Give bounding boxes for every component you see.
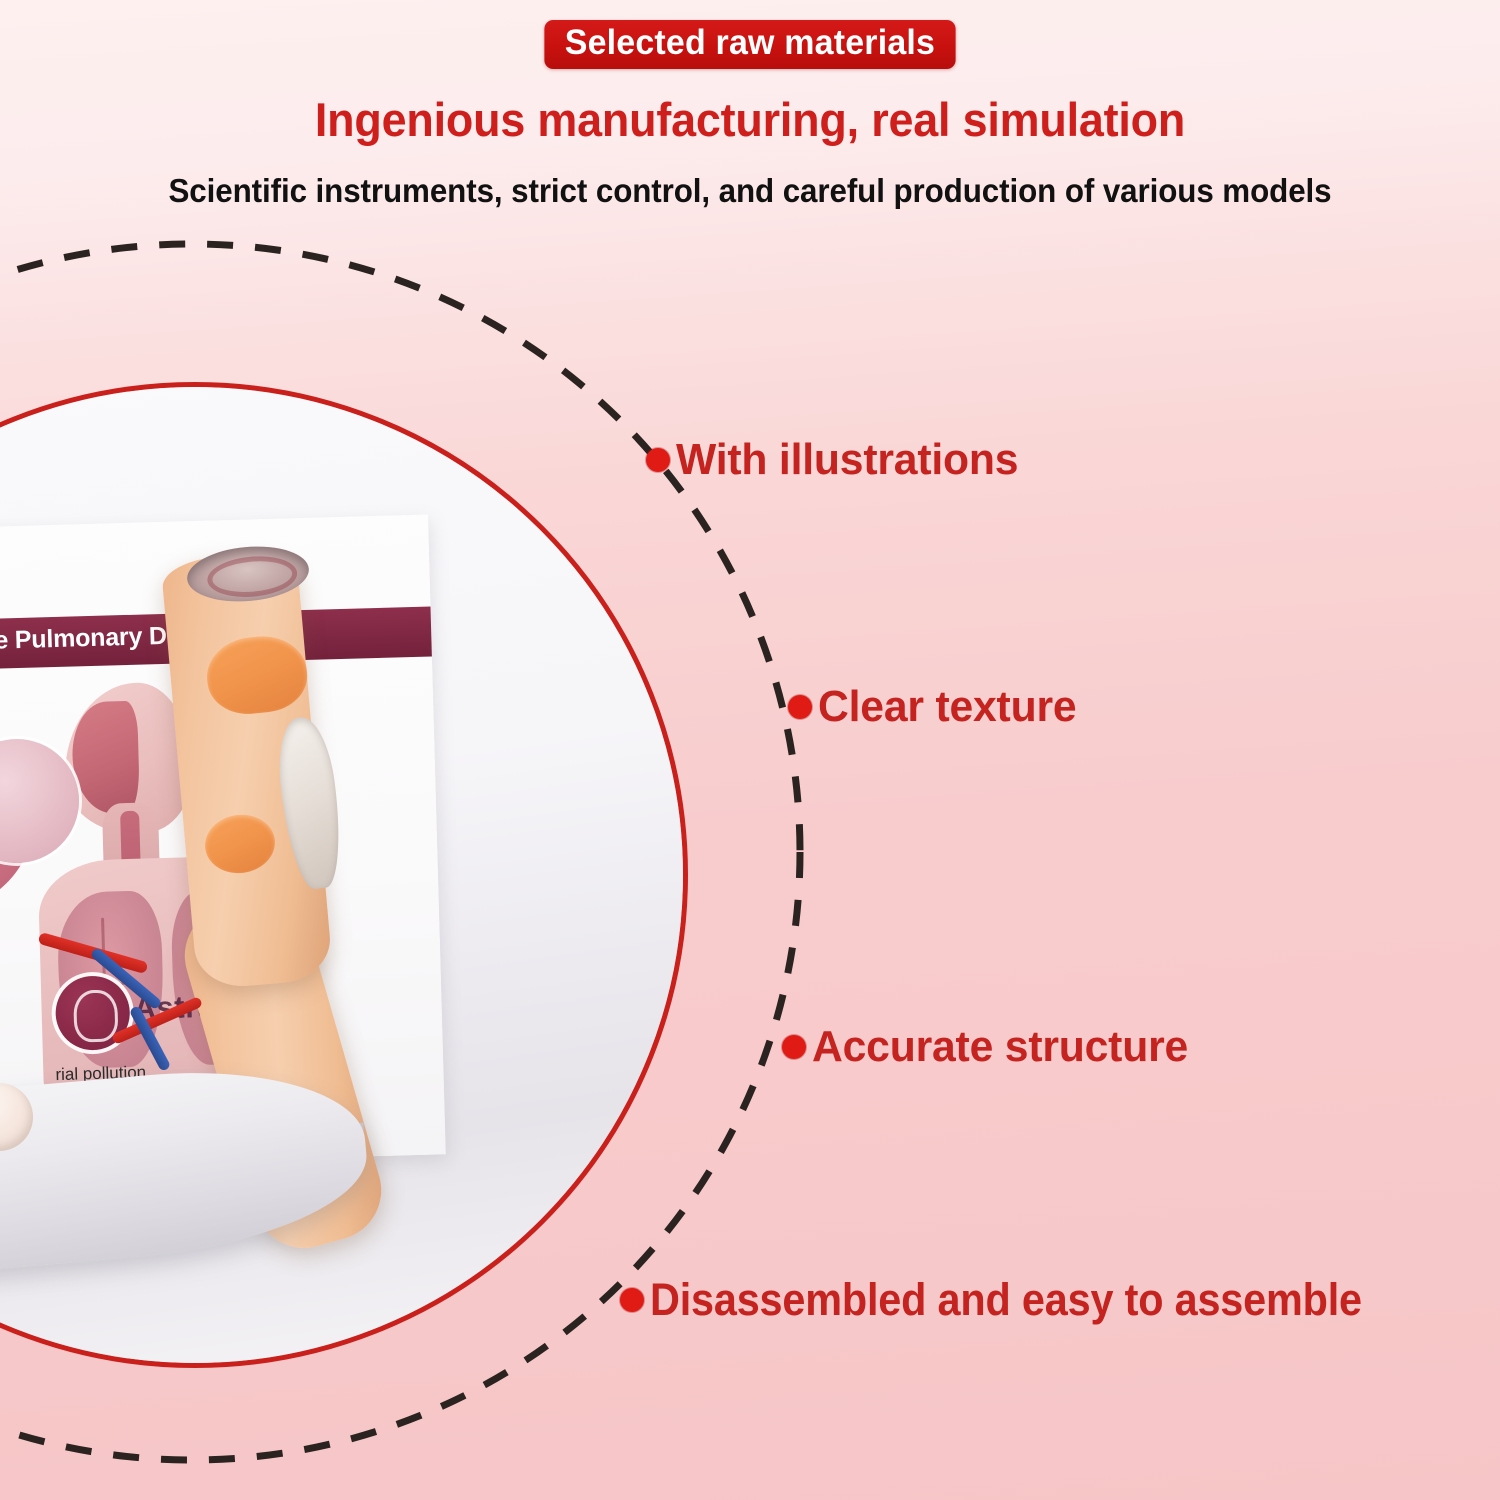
selected-raw-materials-badge: Selected raw materials	[544, 20, 955, 69]
bullet-dot-icon	[620, 1288, 644, 1312]
product-feature-banner: Selected raw materials Ingenious manufac…	[0, 0, 1500, 1500]
feature-label: Clear texture	[818, 682, 1076, 732]
page-subtitle: Scientific instruments, strict control, …	[38, 172, 1463, 210]
healthy-alveoli-cluster-lower	[0, 1005, 53, 1205]
bullet-dot-icon	[782, 1035, 806, 1059]
feature-label: Disassembled and easy to assemble	[650, 1274, 1362, 1326]
badge-row: Selected raw materials	[0, 20, 1500, 69]
bullet-dot-icon	[788, 695, 812, 719]
feature-bullet-disassembled-easy-assemble: Disassembled and easy to assemble	[620, 1274, 1424, 1326]
feature-label: With illustrations	[676, 435, 1018, 485]
feature-bullet-accurate-structure: Accurate structure	[782, 1022, 1200, 1072]
product-photo: COPD (Chronic Obstructive Pulmonary Dise…	[0, 387, 683, 1363]
feature-label: Accurate structure	[812, 1022, 1188, 1072]
product-photo-circle: COPD (Chronic Obstructive Pulmonary Dise…	[0, 382, 688, 1368]
feature-bullet-clear-texture: Clear texture	[788, 682, 1084, 732]
feature-bullet-with-illustrations: With illustrations	[646, 435, 1029, 485]
bullet-dot-icon	[646, 448, 670, 472]
page-title: Ingenious manufacturing, real simulation	[34, 92, 1467, 147]
